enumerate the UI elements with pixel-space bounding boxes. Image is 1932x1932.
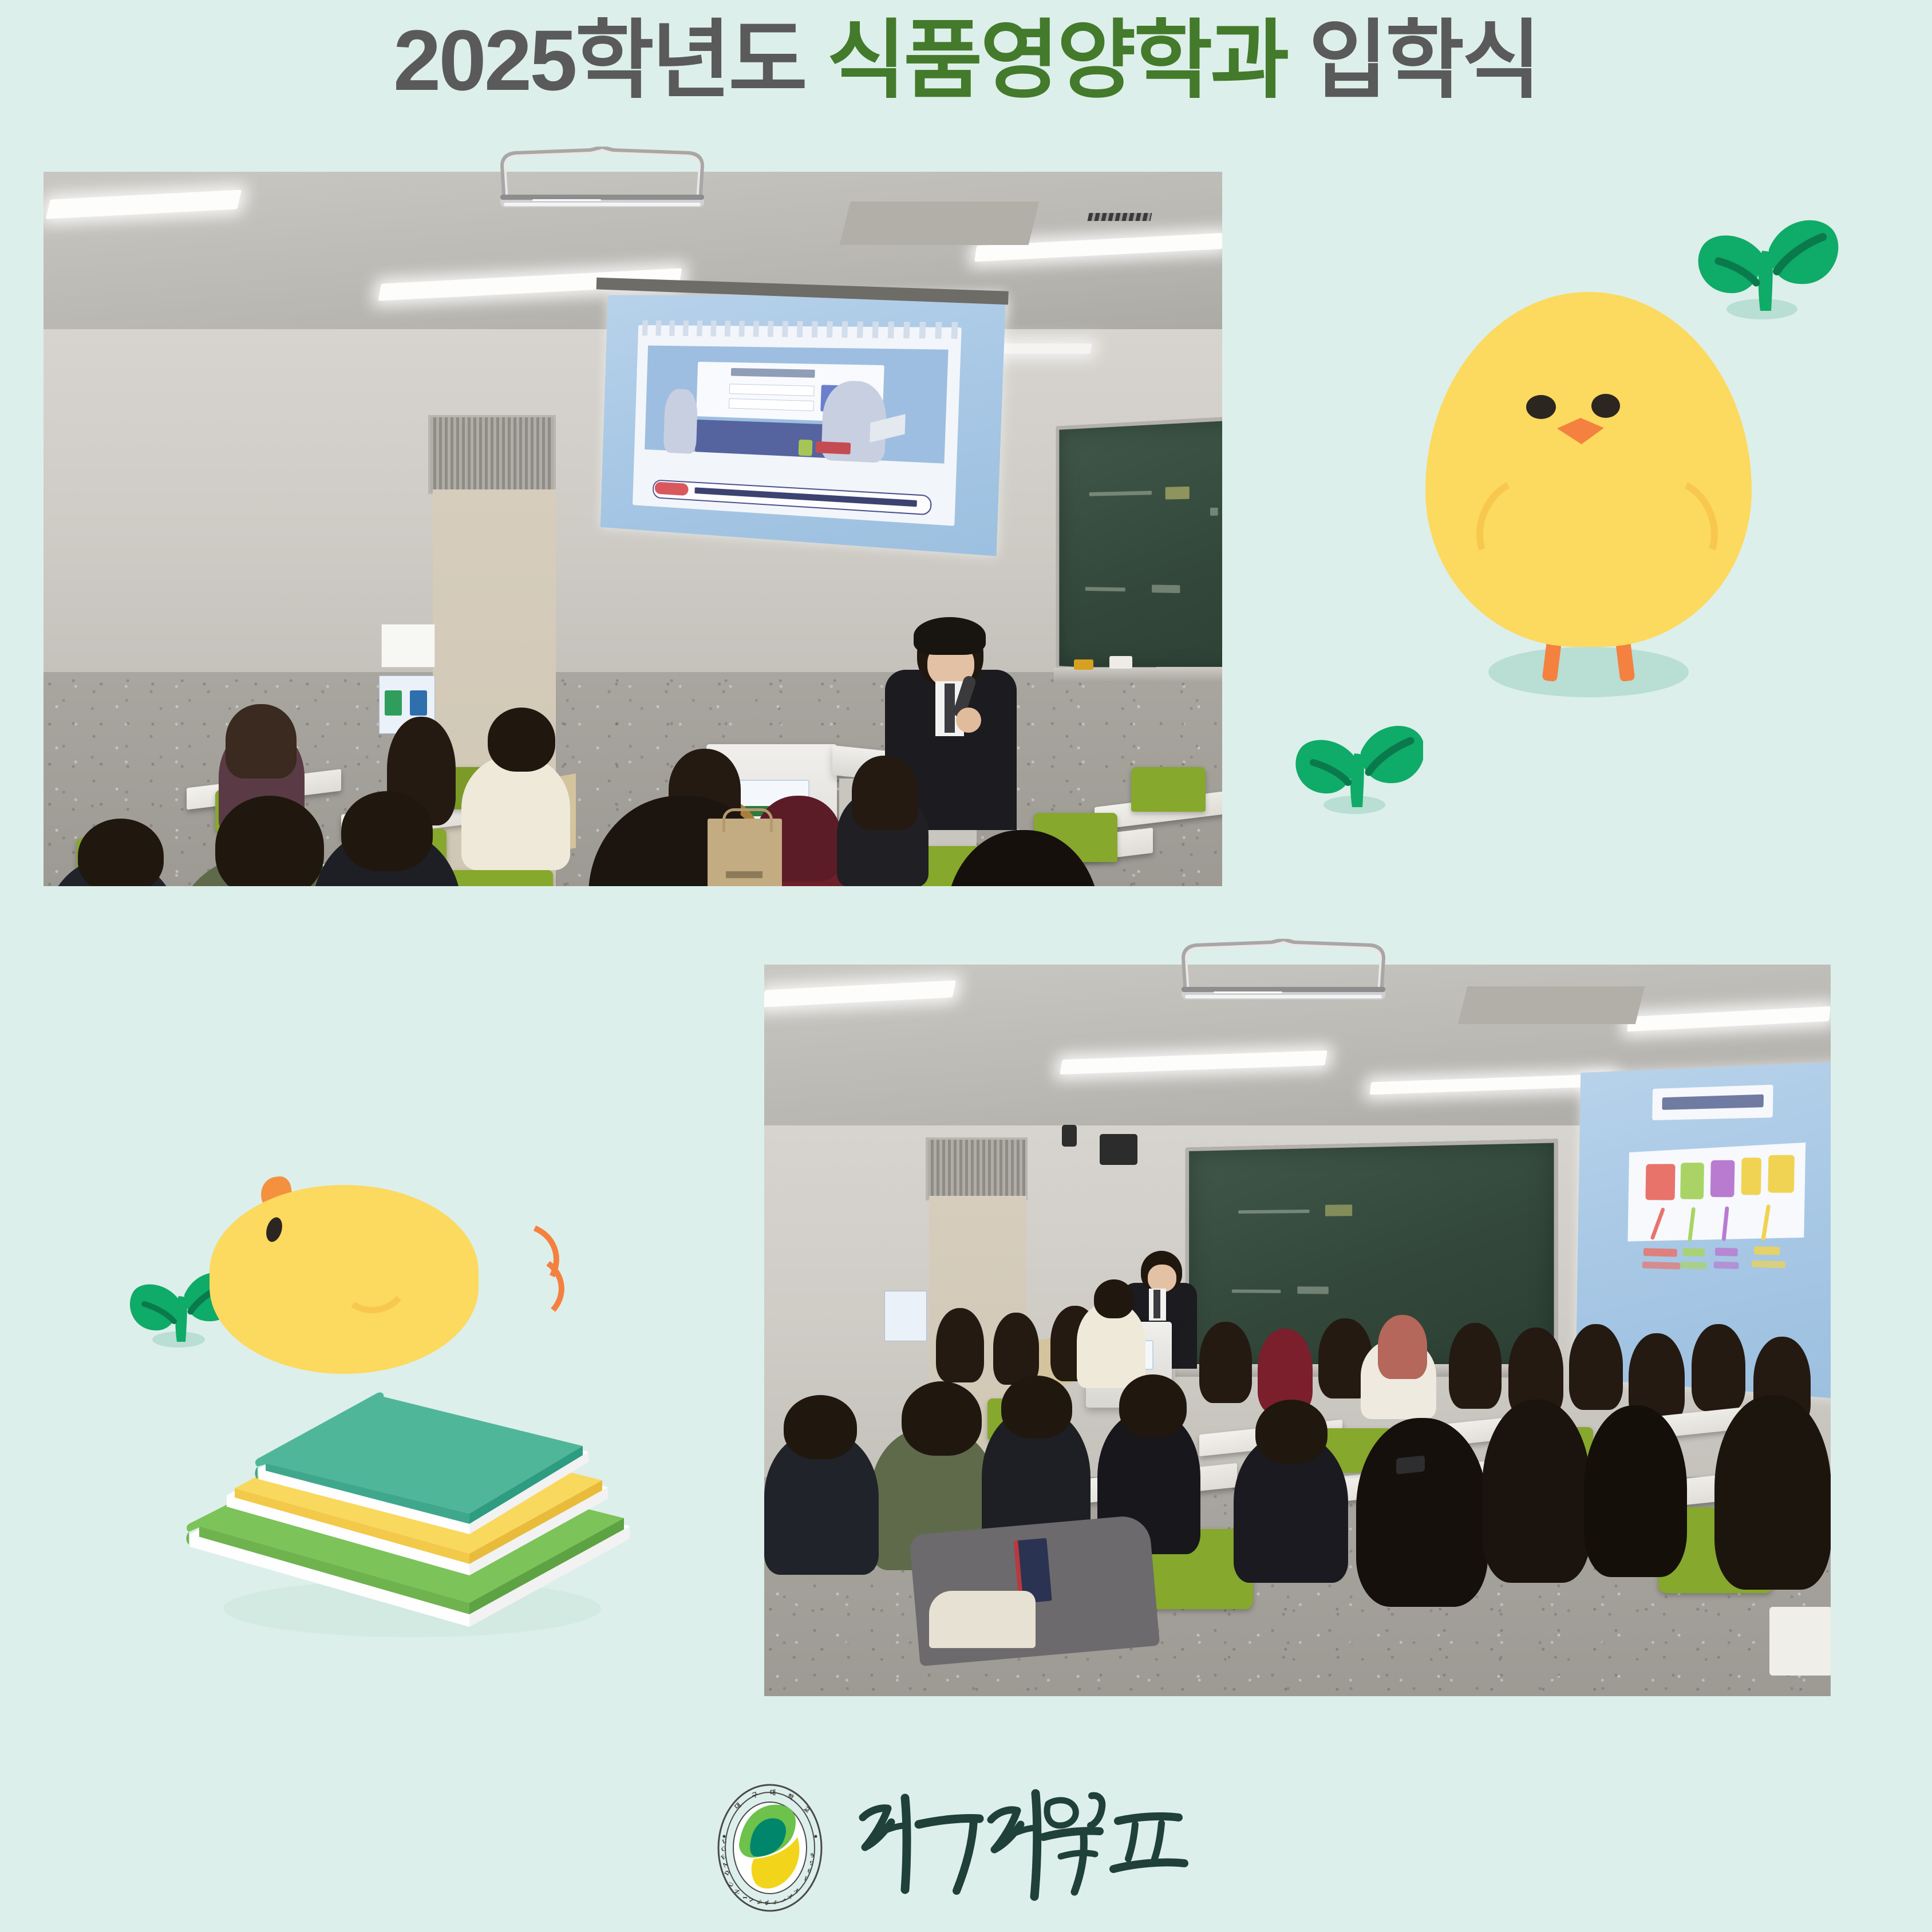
- slide-caption-badge: [654, 481, 688, 496]
- white-bag: [1769, 1607, 1831, 1676]
- student-seated: [993, 1313, 1039, 1385]
- page-title: 2025학년도 식품영양학과 입학식: [0, 6, 1932, 114]
- chalk-writing: [1210, 508, 1218, 516]
- svg-text:U: U: [727, 1882, 735, 1888]
- student-seated: [936, 1308, 984, 1382]
- chalk-writing: [1165, 487, 1190, 500]
- svg-text:I: I: [780, 1897, 787, 1903]
- chalk-writing: [1089, 491, 1152, 496]
- student-head: [1094, 1279, 1134, 1318]
- code-char: [1710, 1160, 1735, 1198]
- chick-eye-left: [1526, 395, 1556, 419]
- poster-canvas: 2025학년도 식품영양학과 입학식: [0, 0, 1932, 1932]
- photo-top-content: [44, 172, 1222, 886]
- svg-text:구: 구: [751, 1791, 759, 1800]
- presenter-tie: [1153, 1290, 1160, 1318]
- sprout-icon: [1280, 694, 1423, 815]
- chalk-writing: [1085, 587, 1125, 591]
- chick-eye-right: [1591, 394, 1620, 418]
- code-sublabel: [1680, 1262, 1707, 1269]
- svg-text:E: E: [756, 1899, 764, 1905]
- chalk-writing: [1152, 584, 1180, 593]
- wall-vent: [926, 1137, 1028, 1200]
- ceiling-sensor: [1062, 1125, 1077, 1147]
- student-seated: [1449, 1323, 1502, 1409]
- title-year-segment: 2025학년도: [393, 12, 827, 108]
- university-wordmark: [850, 1788, 1216, 1908]
- code-label: [1682, 1248, 1705, 1257]
- student-head: [1119, 1374, 1187, 1437]
- student-head: [341, 791, 433, 871]
- code-sublabel: [1642, 1262, 1681, 1270]
- code-sublabel: [1713, 1262, 1739, 1269]
- illustration-books: [816, 441, 851, 455]
- chalk-writing: [1325, 1204, 1352, 1216]
- notice-icon-blue: [410, 690, 427, 716]
- student-seated: [1569, 1324, 1623, 1410]
- lying-chick-mascot: [210, 1172, 564, 1424]
- code-char: [1680, 1163, 1704, 1199]
- code-label: [1715, 1248, 1738, 1257]
- presenter-hand: [956, 708, 981, 733]
- student-foreground: [1714, 1395, 1831, 1590]
- classroom-scene-bottom: [764, 965, 1831, 1696]
- svg-text:S: S: [772, 1899, 779, 1906]
- code-sublabel: [1751, 1260, 1785, 1268]
- chalkboard: [1056, 408, 1222, 687]
- projection-screen: [600, 294, 1006, 556]
- eraser: [1109, 656, 1132, 669]
- student-foreground: [1584, 1405, 1687, 1577]
- chalk-writing: [1297, 1286, 1329, 1294]
- student-seated: [1378, 1315, 1427, 1379]
- paper-bag-logo: [726, 871, 762, 878]
- wall-notice-sign: [884, 1291, 927, 1341]
- wall-notice-paper: [381, 624, 435, 667]
- student-seated: [1692, 1324, 1745, 1411]
- photo-bottom[interactable]: [764, 965, 1831, 1696]
- title-department-segment: 식품영양학과: [827, 12, 1287, 108]
- notice-icon-green: [385, 690, 402, 716]
- standing-chick-mascot: [1425, 275, 1780, 710]
- svg-text:Y: Y: [793, 1886, 800, 1894]
- chick-body: [1425, 292, 1752, 647]
- code-label: [1643, 1248, 1677, 1257]
- student-seated: [852, 756, 918, 830]
- student-seated: [461, 756, 570, 870]
- slide-heading-text: [1662, 1095, 1764, 1110]
- classroom-chair: [1131, 767, 1206, 812]
- wall-vent: [428, 415, 556, 494]
- chalk-writing: [1238, 1210, 1310, 1214]
- svg-text:U: U: [721, 1838, 728, 1846]
- ceiling-vent-slats: [1088, 213, 1152, 221]
- presenter-tie: [945, 683, 955, 733]
- student-seated: [226, 704, 297, 779]
- svg-text:9: 9: [807, 1867, 812, 1874]
- presenter-hair: [914, 617, 986, 655]
- svg-text:R: R: [763, 1899, 772, 1906]
- wall-speaker: [1100, 1134, 1137, 1165]
- student-head: [902, 1381, 982, 1456]
- student-seated: [1199, 1322, 1252, 1403]
- chalk-writing: [1232, 1290, 1281, 1293]
- ceiling-vent: [840, 202, 1040, 245]
- ceiling-vent: [1458, 986, 1645, 1024]
- photo-top[interactable]: [44, 172, 1222, 886]
- student-foreground: [1482, 1400, 1591, 1583]
- student-head: [1001, 1376, 1072, 1439]
- student-head: [784, 1395, 857, 1459]
- svg-text:5: 5: [809, 1859, 813, 1866]
- university-emblem-icon: D A E G U U N I V E R S I T Y 1 9: [713, 1782, 827, 1914]
- code-char: [1741, 1157, 1761, 1195]
- student-head: [1255, 1400, 1327, 1464]
- svg-text:1: 1: [803, 1874, 808, 1882]
- presenter-face: [1148, 1265, 1176, 1292]
- code-label: [1754, 1246, 1780, 1255]
- title-event-segment: 입학식: [1287, 12, 1539, 108]
- student-head: [78, 819, 164, 886]
- student-foreground: [1356, 1418, 1488, 1607]
- code-char: [1645, 1164, 1675, 1200]
- classroom-chair: [447, 870, 553, 886]
- university-logo: D A E G U U N I V E R S I T Y 1 9: [713, 1779, 1228, 1917]
- phone-on-desk: [1396, 1455, 1425, 1474]
- paper-bag-handle: [722, 808, 773, 832]
- illustration-cup: [799, 440, 813, 456]
- svg-text:G: G: [720, 1845, 728, 1854]
- chalk-tray-item: [1074, 659, 1093, 670]
- code-char: [1768, 1155, 1795, 1193]
- illustration-person-left: [663, 389, 698, 454]
- classroom-scene-top: [44, 172, 1222, 886]
- student-head: [488, 708, 555, 772]
- svg-text:대: 대: [770, 1788, 776, 1796]
- svg-text:6: 6: [810, 1851, 815, 1859]
- jacket-fleece-liner: [929, 1591, 1036, 1648]
- photo-bottom-content: [764, 965, 1831, 1696]
- chick-shadow: [1488, 647, 1689, 697]
